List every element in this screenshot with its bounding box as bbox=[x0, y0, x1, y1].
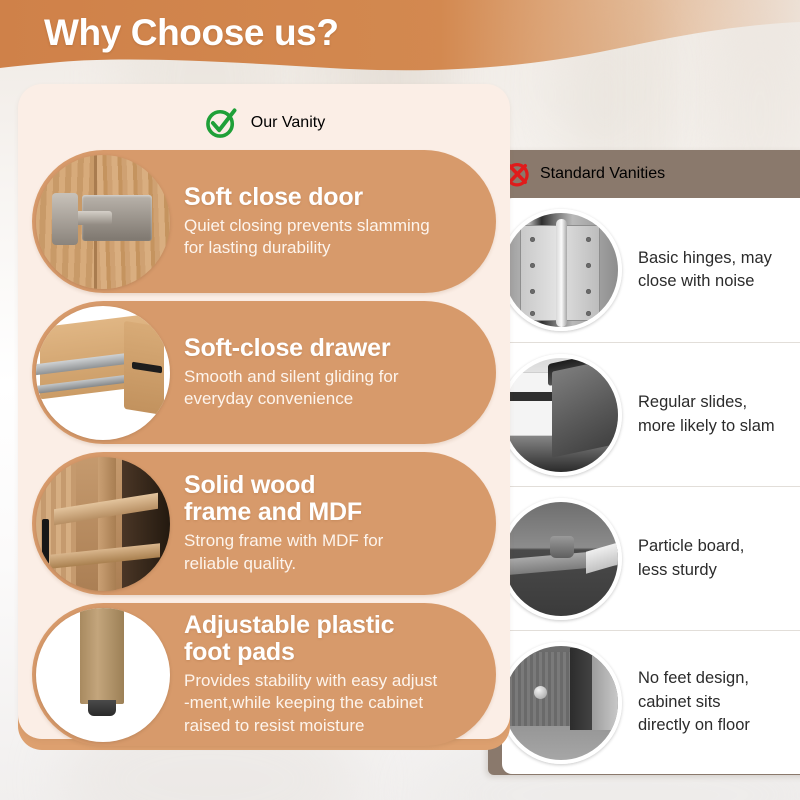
our-vanity-feature-list: Soft close door Quiet closing prevents s… bbox=[18, 150, 510, 754]
particle-board-photo bbox=[500, 498, 622, 620]
drawer-slide-photo bbox=[36, 306, 170, 440]
our-vanity-title: Our Vanity bbox=[251, 114, 325, 132]
standard-vanities-list: Basic hinges, may close with noise Regul… bbox=[502, 198, 800, 774]
our-vanity-header: Our Vanity bbox=[18, 98, 510, 148]
basic-hinge-photo bbox=[500, 209, 622, 331]
list-item: Basic hinges, may close with noise bbox=[502, 198, 800, 342]
regular-slide-photo bbox=[500, 354, 622, 476]
list-item-text: Regular slides, more likely to slam bbox=[638, 391, 775, 438]
cabinet-hinge-photo bbox=[36, 155, 170, 289]
list-item-text: No feet design, cabinet sits directly on… bbox=[638, 667, 750, 737]
list-item-text: Particle board, less sturdy bbox=[638, 535, 744, 582]
feature-description: Quiet closing prevents slamming for last… bbox=[184, 215, 430, 260]
feature-item: Solid wood frame and MDF Strong frame wi… bbox=[32, 452, 496, 595]
no-feet-cabinet-photo bbox=[500, 642, 622, 764]
list-item: No feet design, cabinet sits directly on… bbox=[502, 630, 800, 774]
feature-heading: Adjustable plastic foot pads bbox=[184, 612, 437, 666]
our-vanity-panel: Our Vanity Soft close door Quiet closing… bbox=[18, 84, 510, 739]
feature-description: Provides stability with easy adjust -men… bbox=[184, 670, 437, 737]
list-item-text: Basic hinges, may close with noise bbox=[638, 247, 772, 294]
page-title: Why Choose us? bbox=[44, 12, 339, 54]
infographic-canvas: Why Choose us? Standard Vanities bbox=[0, 0, 800, 800]
list-item: Particle board, less sturdy bbox=[502, 486, 800, 630]
feature-heading: Soft-close drawer bbox=[184, 335, 399, 362]
list-item: Regular slides, more likely to slam bbox=[502, 342, 800, 486]
header-banner: Why Choose us? bbox=[0, 0, 800, 90]
wood-frame-shelf-photo bbox=[36, 457, 170, 591]
feature-heading: Soft close door bbox=[184, 184, 430, 211]
check-circle-icon bbox=[203, 105, 239, 141]
feature-item: Adjustable plastic foot pads Provides st… bbox=[32, 603, 496, 746]
feature-heading: Solid wood frame and MDF bbox=[184, 472, 383, 526]
standard-vanities-panel: Standard Vanities Basic hinges, may clos… bbox=[488, 150, 800, 775]
plastic-foot-pad-photo bbox=[36, 608, 170, 742]
feature-description: Smooth and silent gliding for everyday c… bbox=[184, 366, 399, 411]
standard-vanities-header: Standard Vanities bbox=[488, 150, 800, 198]
standard-vanities-title: Standard Vanities bbox=[540, 165, 665, 183]
feature-description: Strong frame with MDF for reliable quali… bbox=[184, 530, 383, 575]
feature-item: Soft-close drawer Smooth and silent glid… bbox=[32, 301, 496, 444]
feature-item: Soft close door Quiet closing prevents s… bbox=[32, 150, 496, 293]
